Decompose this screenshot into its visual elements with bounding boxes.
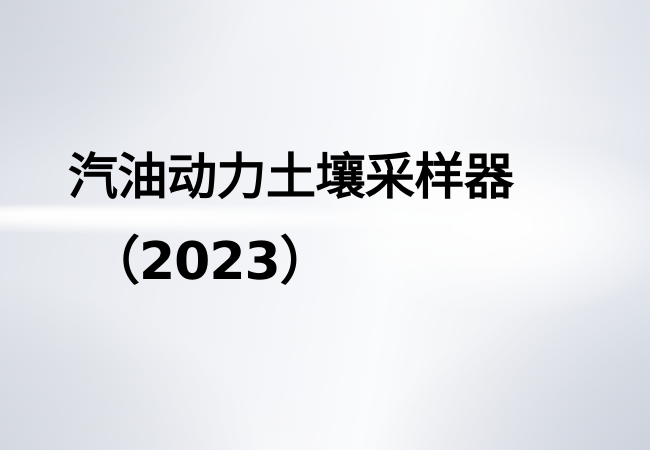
background-haze-overlay (0, 0, 650, 450)
title-slide: 汽油动力土壤采样器 （2023） (0, 0, 650, 450)
